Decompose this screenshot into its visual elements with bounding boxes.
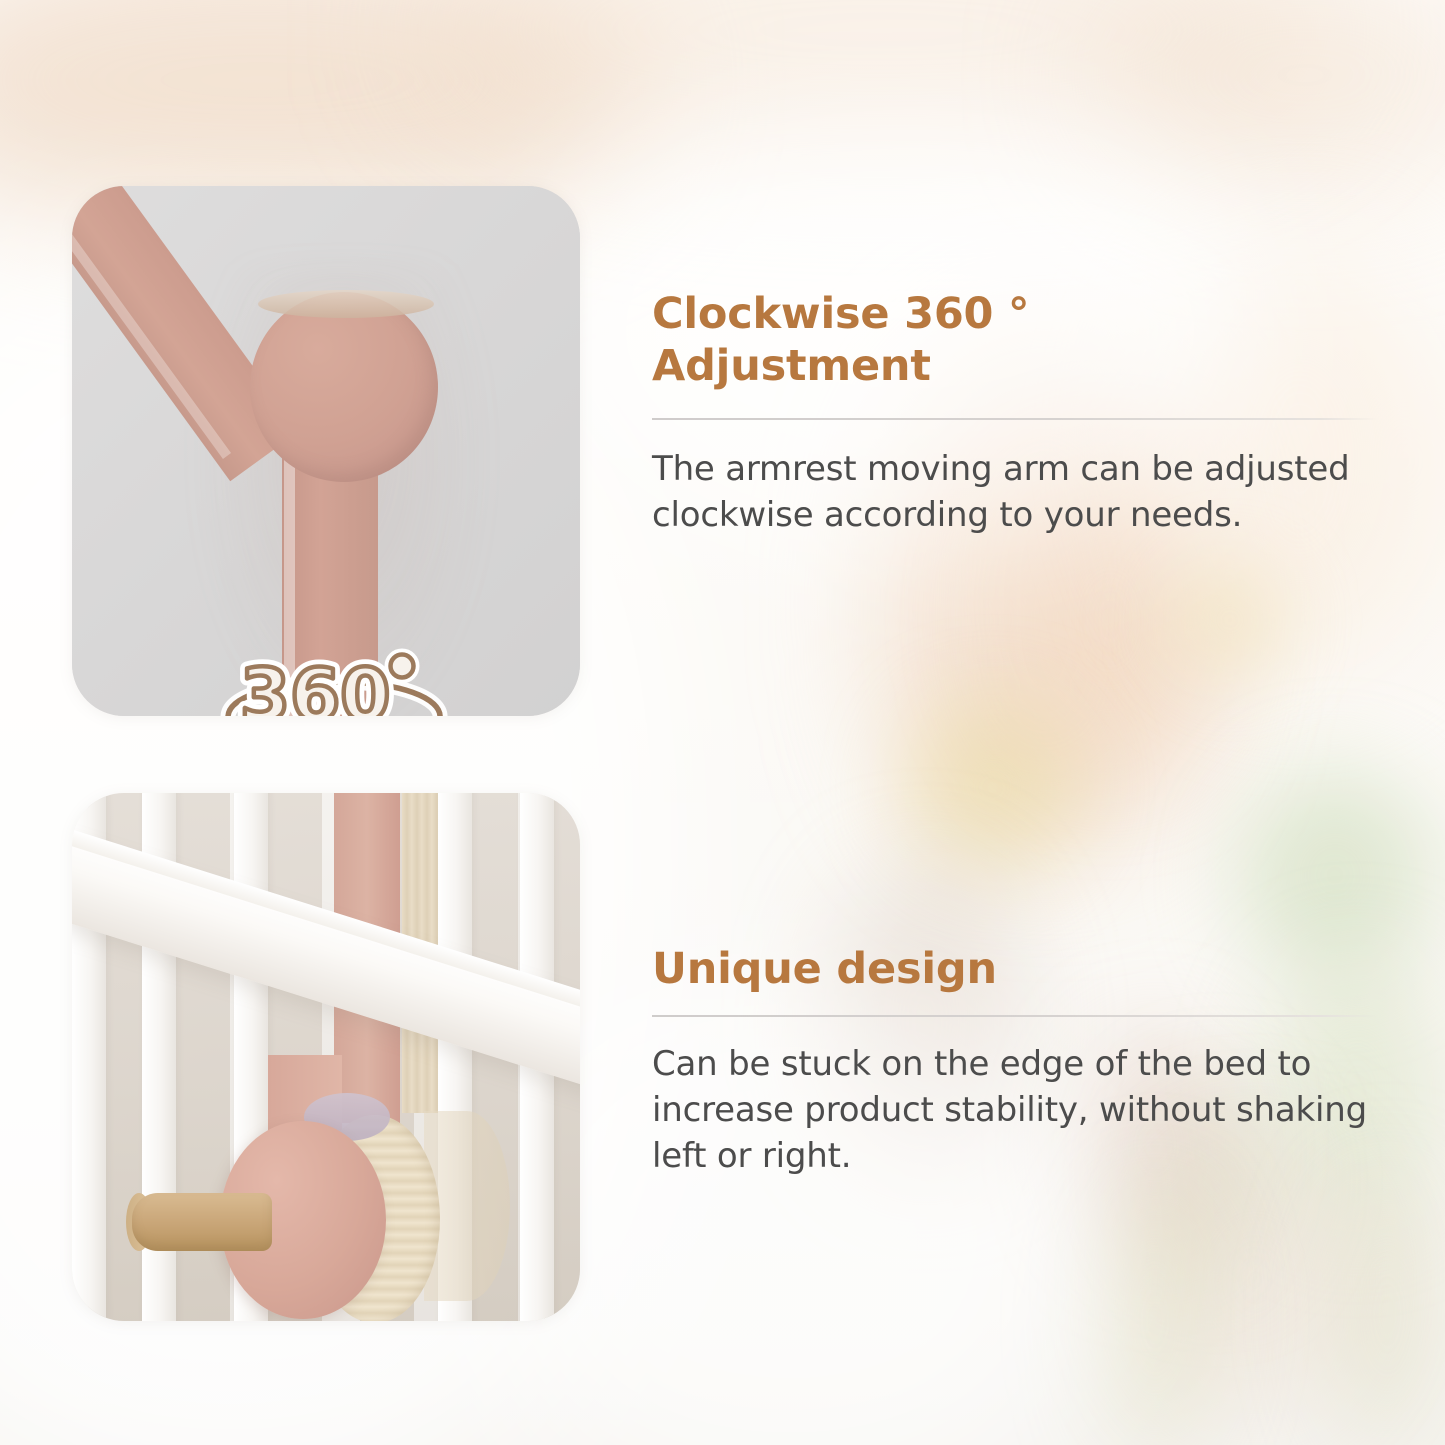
feature-photo-crib-rail-clamp-mount-closeup: [72, 793, 580, 1321]
feature-divider-1: [652, 418, 1378, 420]
clamp-wood-dowel: [132, 1193, 272, 1251]
feature-photo-armrest-rotating-joint-closeup: 360 360: [72, 186, 580, 716]
feature-heading-line-1: Unique design: [652, 943, 1378, 995]
rotation-360-badge-icon: 360 360: [214, 638, 454, 716]
feature-heading-clockwise-adjustment: Clockwise 360 ° Adjustment: [652, 288, 1378, 392]
feature-heading-unique-design: Unique design: [652, 943, 1378, 995]
feature-divider-2: [652, 1015, 1378, 1017]
armrest-pivot-knuckle-rim: [258, 290, 434, 318]
feature-body-clockwise-adjustment: The armrest moving arm can be adjusted c…: [652, 446, 1378, 538]
feature-heading-line-1: Clockwise 360 °: [652, 288, 1378, 340]
feature-text-block-clockwise-adjustment: Clockwise 360 ° Adjustment The armrest m…: [652, 288, 1378, 539]
rotation-badge-degree-symbol: [391, 655, 414, 678]
feature-body-unique-design: Can be stuck on the edge of the bed to i…: [652, 1041, 1378, 1180]
rotation-badge-number: 360: [240, 653, 390, 716]
armrest-pivot-knuckle: [250, 292, 438, 482]
product-feature-infographic: 360 360: [0, 0, 1445, 1445]
feature-text-block-unique-design: Unique design Can be stuck on the edge o…: [652, 943, 1378, 1180]
feature-heading-line-2: Adjustment: [652, 340, 1378, 392]
